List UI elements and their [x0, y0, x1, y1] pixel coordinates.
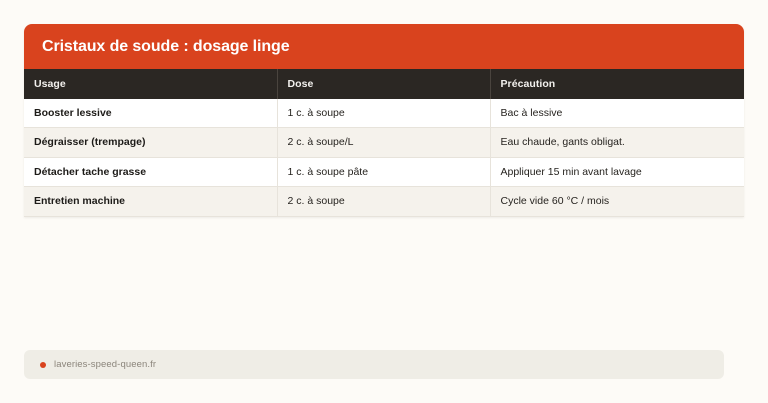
cell-usage: Entretien machine	[24, 187, 277, 217]
cell-dose: 1 c. à soupe pâte	[277, 157, 490, 187]
table-row: Entretien machine 2 c. à soupe Cycle vid…	[24, 187, 744, 217]
cell-precaution: Cycle vide 60 °C / mois	[490, 187, 744, 217]
dot-icon	[40, 362, 46, 368]
table-body: Booster lessive 1 c. à soupe Bac à lessi…	[24, 99, 744, 217]
dosage-card: Cristaux de soude : dosage linge Usage D…	[24, 24, 744, 217]
cell-usage: Détacher tache grasse	[24, 157, 277, 187]
column-header-dose: Dose	[277, 69, 490, 99]
table-header: Usage Dose Précaution	[24, 69, 744, 99]
card-header: Cristaux de soude : dosage linge	[24, 24, 744, 69]
column-header-precaution: Précaution	[490, 69, 744, 99]
cell-dose: 2 c. à soupe	[277, 187, 490, 217]
cell-precaution: Appliquer 15 min avant lavage	[490, 157, 744, 187]
table-header-row: Usage Dose Précaution	[24, 69, 744, 99]
source-bar: laveries-speed-queen.fr	[24, 350, 724, 379]
column-header-usage: Usage	[24, 69, 277, 99]
cell-precaution: Eau chaude, gants obligat.	[490, 128, 744, 158]
cell-precaution: Bac à lessive	[490, 99, 744, 128]
table-row: Détacher tache grasse 1 c. à soupe pâte …	[24, 157, 744, 187]
cell-dose: 2 c. à soupe/L	[277, 128, 490, 158]
table-row: Dégraisser (trempage) 2 c. à soupe/L Eau…	[24, 128, 744, 158]
source-label: laveries-speed-queen.fr	[54, 359, 156, 370]
cell-usage: Booster lessive	[24, 99, 277, 128]
table-row: Booster lessive 1 c. à soupe Bac à lessi…	[24, 99, 744, 128]
cell-usage: Dégraisser (trempage)	[24, 128, 277, 158]
dosage-table: Usage Dose Précaution Booster lessive 1 …	[24, 69, 744, 217]
page-title: Cristaux de soude : dosage linge	[42, 38, 726, 56]
cell-dose: 1 c. à soupe	[277, 99, 490, 128]
